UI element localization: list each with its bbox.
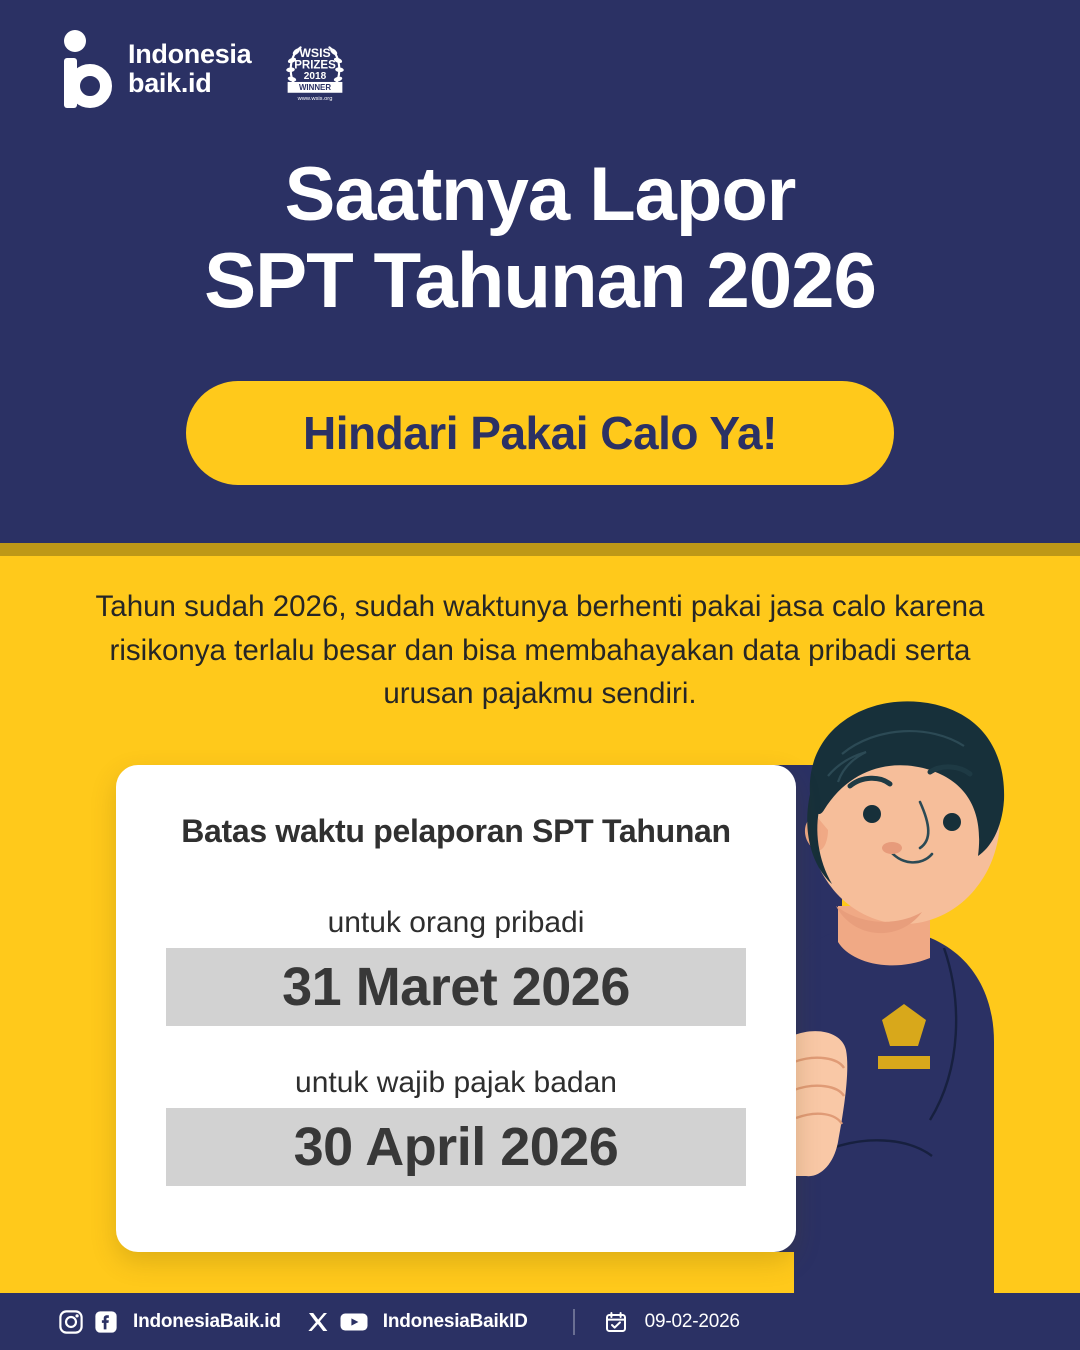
tax-officer-character — [780, 690, 1080, 1295]
deadline-card: Batas waktu pelaporan SPT Tahunan untuk … — [116, 765, 796, 1252]
wsis-ribbon: WINNER — [299, 83, 331, 92]
x-twitter-icon[interactable] — [306, 1310, 330, 1334]
youtube-icon[interactable] — [339, 1310, 369, 1334]
instagram-icon[interactable] — [58, 1309, 84, 1335]
ib-monogram-icon — [62, 30, 112, 108]
title-line-1: Saatnya Lapor — [285, 152, 796, 237]
card-title: Batas waktu pelaporan SPT Tahunan — [116, 813, 796, 850]
title-line-2: SPT Tahunan 2026 — [0, 237, 1080, 324]
calendar-icon — [604, 1310, 628, 1334]
footer-date: 09-02-2026 — [645, 1311, 740, 1333]
brand-name-line1: Indonesia — [128, 39, 251, 69]
deadline-label-personal: untuk orang pribadi — [116, 906, 796, 940]
footer-divider — [573, 1309, 575, 1335]
deadline-label-corporate: untuk wajib pajak badan — [116, 1066, 796, 1100]
brand-bar: Indonesia baik.id WSIS — [62, 30, 351, 108]
highlight-pill-label: Hindari Pakai Calo Ya! — [303, 406, 777, 460]
wsis-laurel-award-icon: WSIS PRIZES 2018 WINNER www.wsis.org — [279, 33, 351, 105]
infographic-poster: Indonesia baik.id WSIS — [0, 0, 1080, 1350]
page-title: Saatnya Lapor SPT Tahunan 2026 — [0, 152, 1080, 324]
brand-name-line2: baik.id — [128, 68, 211, 98]
wsis-url: www.wsis.org — [297, 96, 333, 102]
deadline-date-corporate: 30 April 2026 — [166, 1108, 746, 1186]
footer-bar: IndonesiaBaik.id IndonesiaBaikID 09-02-2… — [0, 1293, 1080, 1350]
uniform-bar-icon — [878, 1056, 930, 1069]
deadline-date-personal-text: 31 Maret 2026 — [282, 956, 630, 1018]
wsis-line2: PRIZES — [295, 59, 337, 71]
facebook-icon[interactable] — [93, 1309, 119, 1335]
deadline-date-corporate-text: 30 April 2026 — [294, 1116, 619, 1178]
wsis-year: 2018 — [304, 71, 327, 82]
deadline-date-personal: 31 Maret 2026 — [166, 948, 746, 1026]
highlight-pill: Hindari Pakai Calo Ya! — [186, 381, 894, 485]
gold-divider-strip — [0, 543, 1080, 556]
wsis-line1: WSIS — [300, 46, 331, 60]
brand-name: Indonesia baik.id — [128, 40, 251, 97]
handle-x: IndonesiaBaikID — [383, 1311, 528, 1333]
handle-meta: IndonesiaBaik.id — [133, 1311, 281, 1333]
